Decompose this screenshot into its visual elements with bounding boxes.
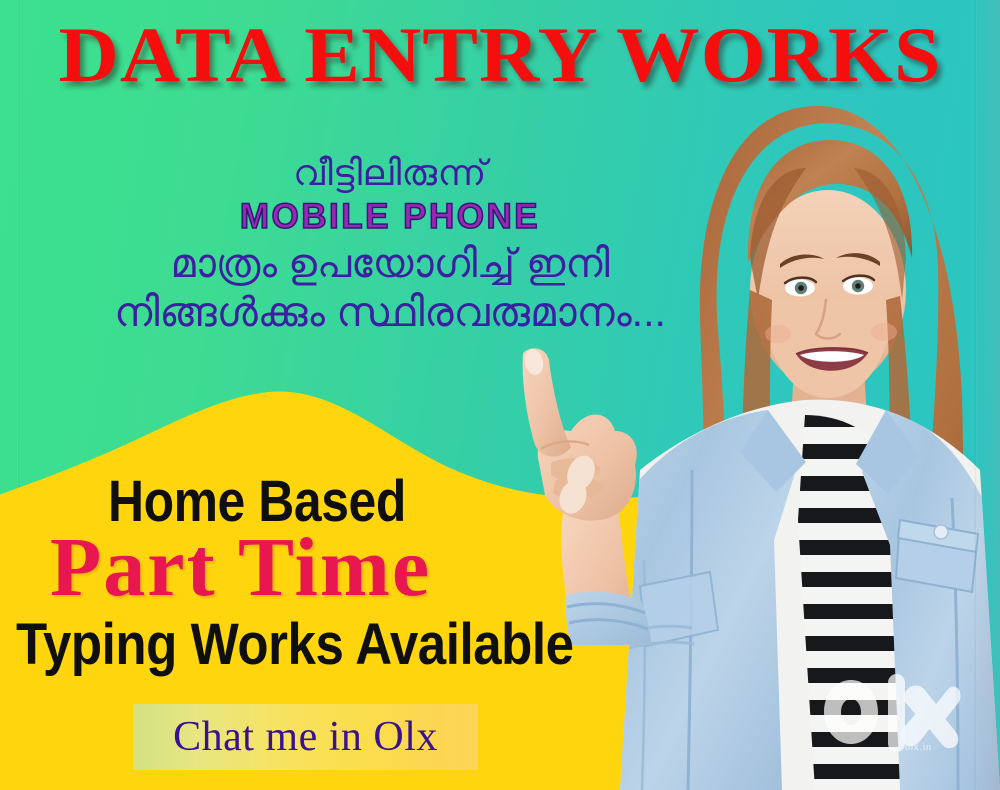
typing-works-label: Typing Works Available xyxy=(16,616,574,674)
olx-watermark-sub: olx.in xyxy=(905,742,932,752)
olx-watermark-icon xyxy=(820,672,970,754)
chat-cta-label[interactable]: Chat me in Olx xyxy=(133,704,478,770)
advertisement-poster: DATA ENTRY WORKS വീട്ടിലിരുന്ന് MOBILE P… xyxy=(0,0,1000,790)
part-time-label: Part Time xyxy=(50,526,431,610)
pointing-hand xyxy=(505,345,735,645)
